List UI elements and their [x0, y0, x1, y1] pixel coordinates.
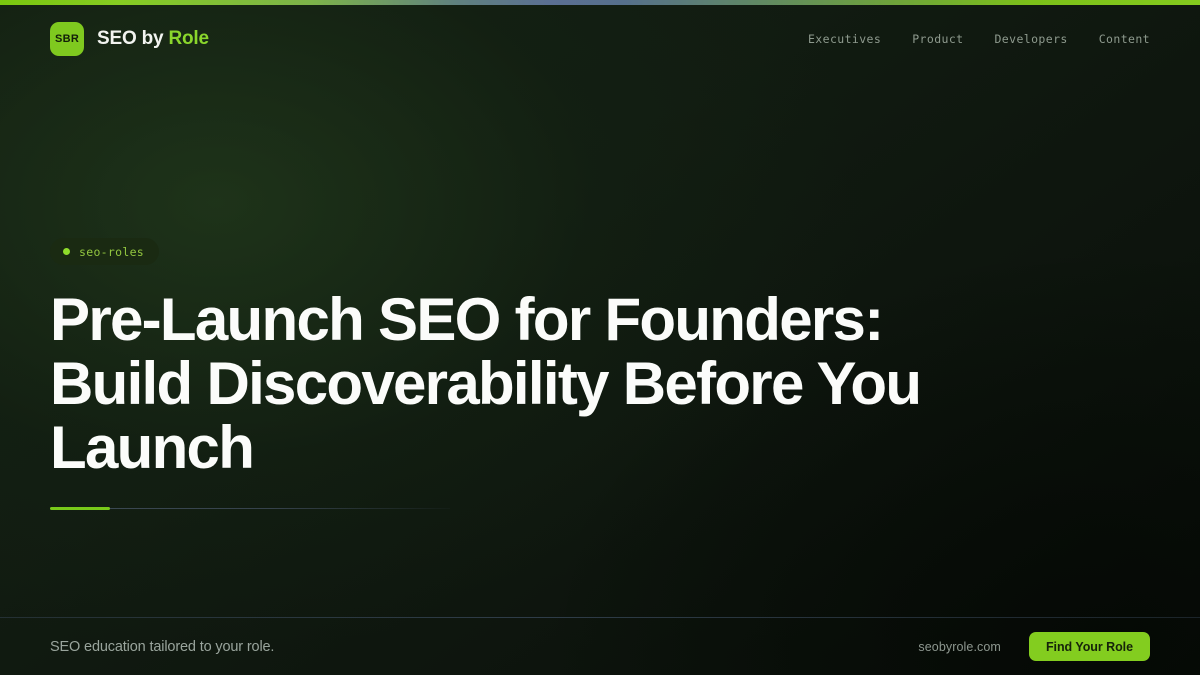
site-header: SBR SEO by Role Executives Product Devel…	[0, 5, 1200, 73]
brand-name-primary: SEO by	[97, 28, 163, 49]
find-your-role-button[interactable]: Find Your Role	[1029, 632, 1150, 661]
logo-initials: SBR	[55, 33, 79, 45]
footer-url[interactable]: seobyrole.com	[918, 640, 1001, 654]
nav-item-product[interactable]: Product	[912, 32, 963, 46]
divider-accent-segment	[50, 507, 110, 510]
nav-item-content[interactable]: Content	[1099, 32, 1150, 46]
hero-section: seo-roles Pre-Launch SEO for Founders: B…	[50, 238, 1080, 510]
nav-item-executives[interactable]: Executives	[808, 32, 881, 46]
category-badge[interactable]: seo-roles	[50, 238, 159, 265]
status-dot-icon	[63, 248, 70, 255]
divider-line	[50, 508, 450, 509]
brand-name-accent: Role	[168, 28, 208, 49]
primary-navigation: Executives Product Developers Content	[808, 32, 1150, 46]
site-footer: SEO education tailored to your role. seo…	[0, 618, 1200, 675]
footer-actions: seobyrole.com Find Your Role	[918, 632, 1150, 661]
page-root: SBR SEO by Role Executives Product Devel…	[0, 0, 1200, 675]
nav-item-developers[interactable]: Developers	[994, 32, 1067, 46]
page-title: Pre-Launch SEO for Founders: Build Disco…	[50, 288, 1030, 481]
brand-name: SEO by Role	[97, 28, 209, 50]
brand-logo[interactable]: SBR SEO by Role	[50, 22, 209, 56]
title-divider	[50, 507, 450, 510]
footer-tagline: SEO education tailored to your role.	[50, 639, 274, 655]
category-badge-label: seo-roles	[79, 245, 144, 259]
sbr-square-logo-icon: SBR	[50, 22, 84, 56]
